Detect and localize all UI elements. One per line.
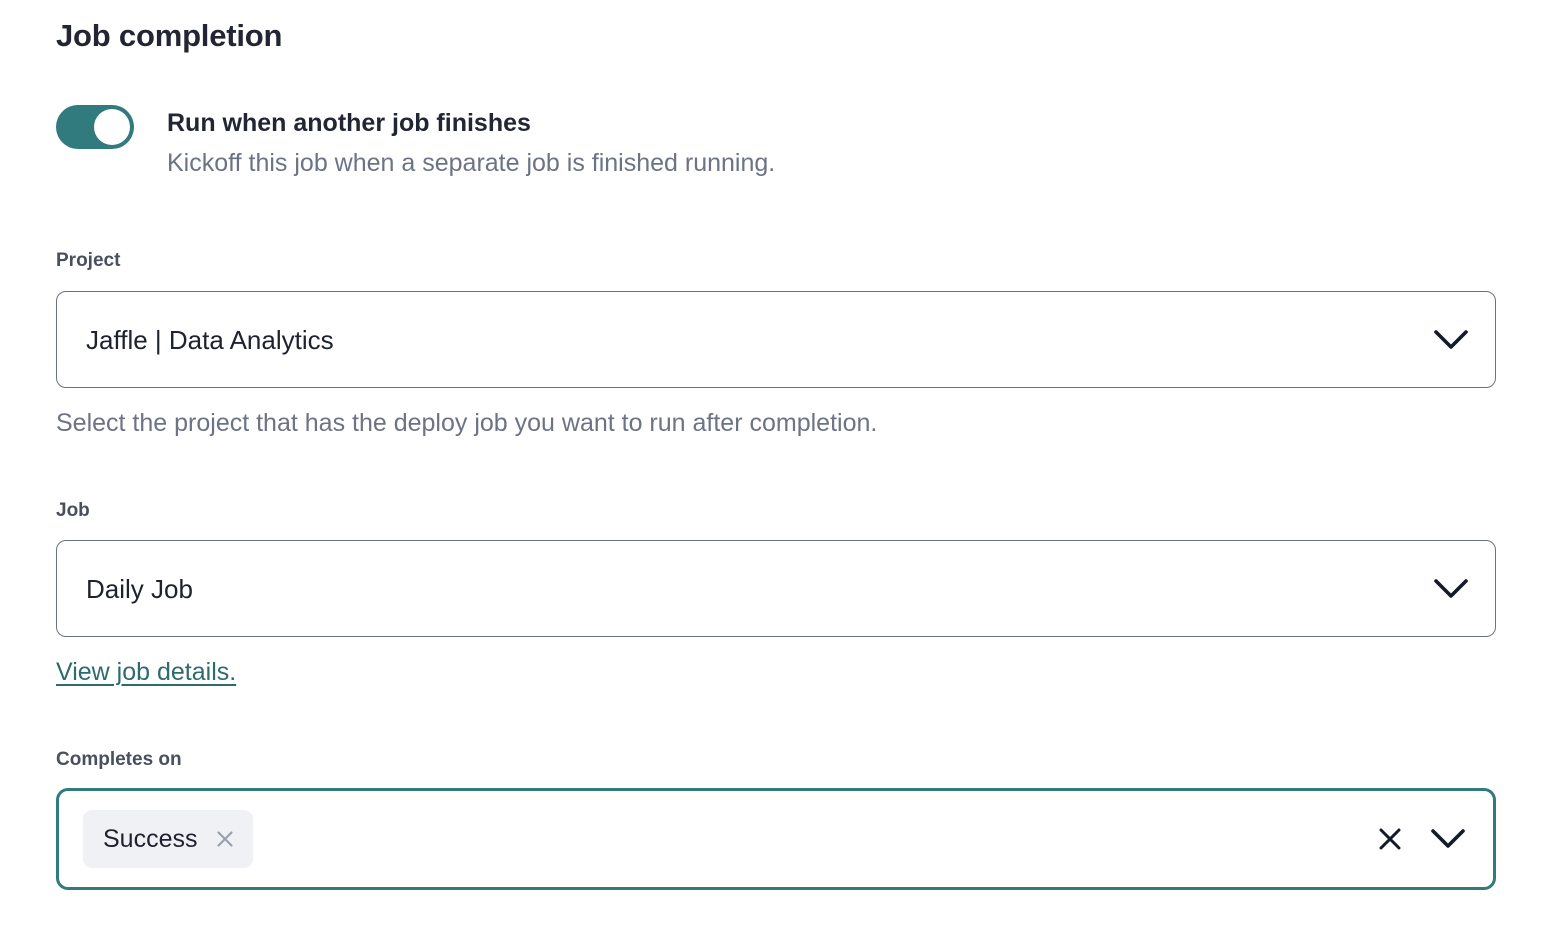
toggle-description: Kickoff this job when a separate job is … bbox=[167, 147, 775, 179]
project-label: Project bbox=[56, 249, 120, 273]
toggle-knob bbox=[94, 109, 130, 145]
run-when-another-job-finishes-row: Run when another job finishes Kickoff th… bbox=[56, 104, 775, 179]
completes-on-label: Completes on bbox=[56, 748, 182, 772]
job-select[interactable]: Daily Job bbox=[56, 540, 1496, 637]
job-label: Job bbox=[56, 499, 90, 523]
project-helper-text: Select the project that has the deploy j… bbox=[56, 406, 877, 440]
close-icon[interactable] bbox=[213, 827, 237, 851]
job-completion-panel: Job completion Run when another job fini… bbox=[0, 0, 1564, 936]
job-selected-value: Daily Job bbox=[57, 572, 1419, 606]
chevron-down-icon[interactable] bbox=[1419, 579, 1483, 599]
tag-success: Success bbox=[83, 810, 253, 868]
toggle-label: Run when another job finishes bbox=[167, 107, 775, 139]
tag-label: Success bbox=[103, 824, 197, 854]
project-select[interactable]: Jaffle | Data Analytics bbox=[56, 291, 1496, 388]
chevron-down-icon[interactable] bbox=[1419, 330, 1483, 350]
close-icon[interactable] bbox=[1363, 812, 1417, 866]
completes-on-multiselect[interactable]: Success bbox=[56, 788, 1496, 890]
selected-tags: Success bbox=[83, 810, 1363, 868]
project-selected-value: Jaffle | Data Analytics bbox=[57, 323, 1419, 357]
view-job-details-link[interactable]: View job details. bbox=[56, 655, 236, 689]
chevron-down-icon[interactable] bbox=[1417, 812, 1479, 866]
multiselect-actions bbox=[1363, 812, 1479, 866]
toggle-text-group: Run when another job finishes Kickoff th… bbox=[167, 104, 775, 179]
run-when-another-job-finishes-toggle[interactable] bbox=[56, 105, 134, 149]
page-title: Job completion bbox=[56, 16, 282, 56]
